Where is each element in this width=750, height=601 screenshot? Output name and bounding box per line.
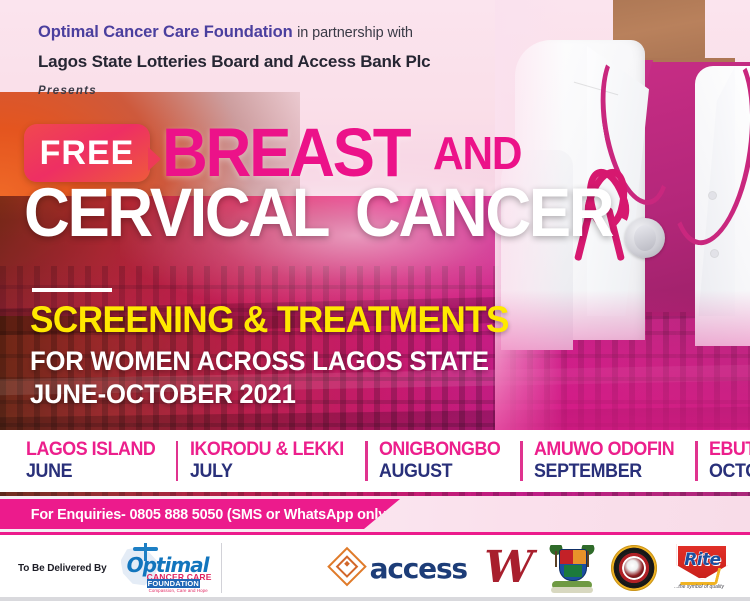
doctor-coat-button: [711, 250, 718, 257]
location-name: AMUWO ODOFIN: [534, 439, 674, 461]
screening-treatments-text: SCREENING & TREATMENTS: [30, 299, 509, 341]
location-month: SEPTEMBER: [534, 461, 674, 483]
header-line-1: Optimal Cancer Care Foundation in partne…: [38, 22, 508, 43]
enquiries-banner[interactable]: For Enquiries- 0805 888 5050 (SMS or Wha…: [0, 499, 400, 529]
coat-of-arms-ribbon: [551, 587, 593, 593]
headline-line-2: CERVICAL CANCER: [24, 180, 624, 246]
location-month: JULY: [190, 461, 344, 483]
location-item: ONIGBONGBO AUGUST: [365, 439, 520, 483]
headline-block: FREE BREAST AND CERVICAL CANCER: [24, 118, 624, 246]
presents-label: Presents: [38, 85, 508, 97]
rite-logo-word: Rite: [684, 550, 720, 570]
footer-logo-strip: To Be Delivered By Optimal CANCER CARE F…: [0, 532, 750, 601]
poster-canvas: Optimal Cancer Care Foundation in partne…: [0, 0, 750, 601]
headline-word-cancer: CANCER: [355, 180, 612, 246]
location-name: IKORODU & LEKKI: [190, 439, 344, 461]
headline-divider-rule: [32, 288, 112, 292]
stethoscope-chestpiece-icon: [625, 218, 665, 258]
headline-word-cervical: CERVICAL: [24, 180, 328, 246]
access-diamond-icon: [325, 547, 367, 589]
location-item: EBUTE METTA OCTOBER: [695, 439, 750, 483]
location-item: LAGOS ISLAND JUNE: [26, 439, 176, 483]
partners-line: Lagos State Lotteries Board and Access B…: [38, 52, 508, 72]
delivered-by-label: To Be Delivered By: [18, 563, 107, 574]
audience-text: FOR WOMEN ACROSS LAGOS STATE: [30, 346, 489, 377]
access-bank-logo: access: [332, 552, 467, 585]
locations-band: LAGOS ISLAND JUNE IKORODU & LEKKI JULY O…: [0, 430, 750, 492]
campaign-dates-text: JUNE-OCTOBER 2021: [30, 379, 296, 410]
location-item: IKORODU & LEKKI JULY: [176, 439, 366, 483]
footer-divider: [221, 543, 222, 593]
seal-center-icon: [624, 558, 644, 578]
header-block: Optimal Cancer Care Foundation in partne…: [38, 22, 508, 97]
footer-partner-logos: access W Rite .: [320, 542, 750, 594]
access-logo-word: access: [370, 552, 467, 585]
optimal-logo-line3: FOUNDATION: [147, 579, 200, 588]
location-month: JUNE: [26, 461, 155, 483]
doctor-bottom-fade: [495, 290, 750, 440]
lagos-state-coat-of-arms-logo: [548, 543, 596, 593]
lagos-state-lotteries-board-seal-logo: [611, 545, 657, 591]
w-logo-mark: W: [484, 542, 529, 593]
location-name: EBUTE METTA: [709, 439, 750, 461]
rite-foods-logo: Rite ...the symbol of quality: [672, 542, 732, 594]
footer-left-group: To Be Delivered By Optimal CANCER CARE F…: [0, 543, 320, 593]
enquiries-text: For Enquiries- 0805 888 5050 (SMS or Wha…: [0, 506, 394, 523]
free-badge-label: FREE: [40, 134, 135, 173]
optimal-cancer-care-foundation-logo: Optimal CANCER CARE FOUNDATION Compassio…: [121, 543, 217, 593]
w-script-logo: W: [482, 548, 532, 588]
location-month: OCTOBER: [709, 461, 750, 483]
location-item: AMUWO ODOFIN SEPTEMBER: [520, 439, 695, 483]
location-name: LAGOS ISLAND: [26, 439, 155, 461]
foundation-brand-name: Optimal Cancer Care Foundation: [38, 23, 293, 41]
rite-logo-tagline: ...the symbol of quality: [674, 584, 724, 590]
location-name: ONIGBONGBO: [379, 439, 500, 461]
rite-check-icon: [680, 568, 721, 585]
optimal-logo-tagline: Compassion, Care and Hope: [149, 588, 208, 593]
coat-of-arms-shield-icon: [559, 549, 587, 581]
location-month: AUGUST: [379, 461, 500, 483]
partnership-text: in partnership with: [297, 25, 413, 41]
